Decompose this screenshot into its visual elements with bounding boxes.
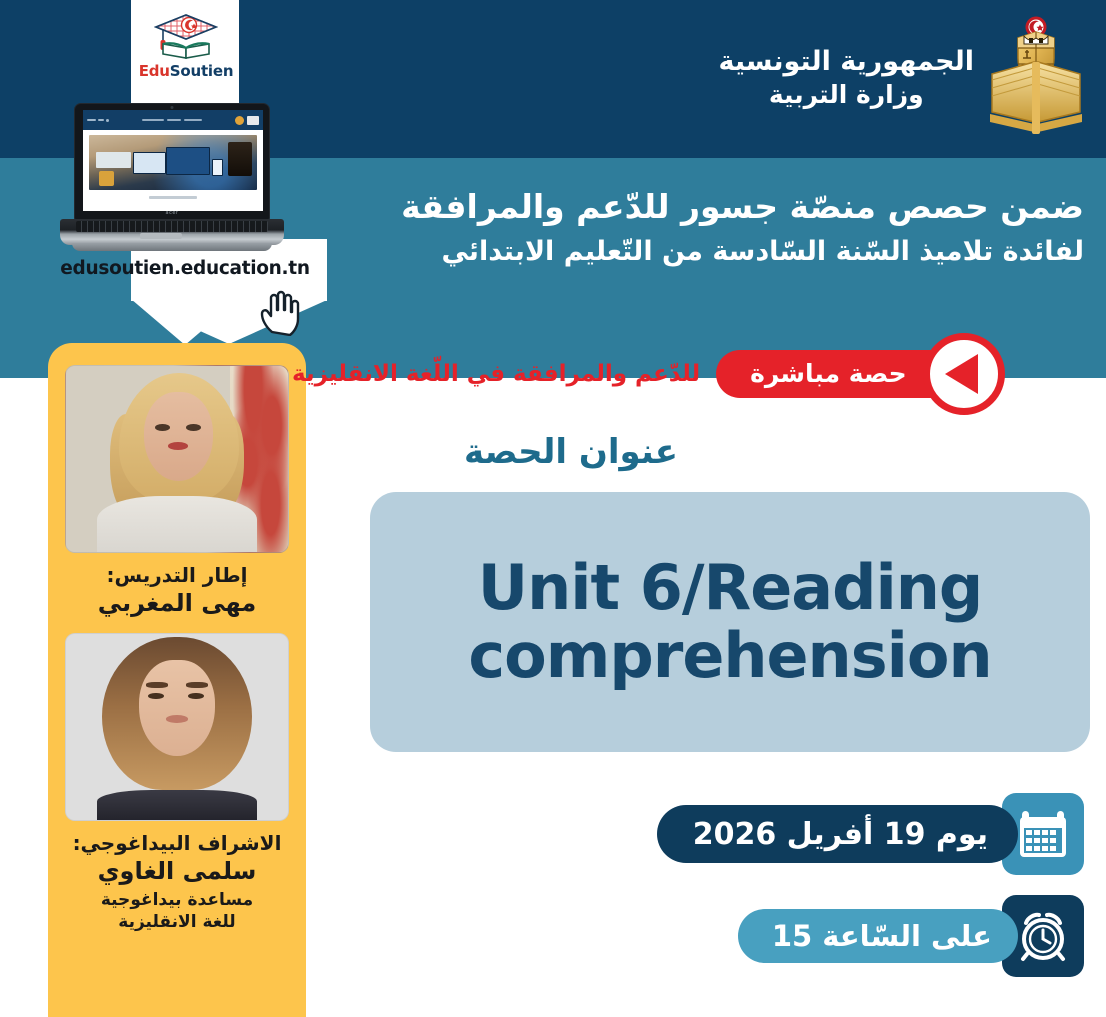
time-text: على السّاعة 15: [738, 909, 1018, 963]
supervisor-photo-salma-elghaoui: [65, 633, 289, 821]
ministry-text: الجمهورية التونسية وزارة التربية: [718, 47, 974, 108]
hero-placard: [96, 152, 131, 169]
graduation-cap-book-logo-icon: [153, 12, 219, 62]
website-hero-image: [89, 135, 257, 190]
heading-primary: ضمن حصص منصّة جسور للدّعم والمرافقة: [314, 186, 1084, 228]
ministry-name: وزارة التربية: [769, 81, 924, 109]
supervisor-name: سلمى الغاوي: [73, 857, 282, 886]
hero-device-phone: [212, 159, 224, 176]
nav-text-bar: [142, 119, 164, 121]
laptop-trackpad: [140, 233, 182, 239]
ribbon-vertical-tail: [131, 299, 239, 345]
headings-block: ضمن حصص منصّة جسور للدّعم والمرافقة لفائ…: [314, 186, 1084, 269]
nav-line-icon: [87, 119, 96, 121]
hero-gear-decoration: [228, 142, 252, 176]
tunisia-ministry-education-emblem-icon: [984, 14, 1088, 142]
laptop-keys: [76, 221, 268, 232]
teacher-role: إطار التدريس:: [98, 563, 256, 587]
website-url-text[interactable]: edusoutien.education.tn: [60, 258, 310, 279]
nav-avatar-icon: [235, 116, 244, 125]
website-navbar: [83, 110, 263, 130]
laptop-brand-text: acer: [166, 210, 179, 216]
brow-right: [186, 682, 208, 688]
nav-text-bar: [184, 119, 202, 121]
laptop-screen-content: [83, 110, 263, 211]
time-row: على السّاعة 15: [738, 895, 1084, 977]
face: [139, 660, 214, 757]
logo-edu-text: Edu: [139, 62, 170, 80]
date-row: يوم 19 أفريل 2026: [657, 793, 1084, 875]
nav-logo-icon: [247, 116, 259, 125]
logo-wordmark: EduSoutien: [139, 64, 234, 79]
poster-canvas: EduSoutien: [0, 0, 1106, 1017]
heading-secondary: لفائدة تلاميذ السّنة السّادسة من التّعلي…: [314, 234, 1084, 269]
edusoutien-logo: EduSoutien: [140, 12, 232, 94]
lips: [166, 715, 188, 722]
play-button[interactable]: [923, 333, 1005, 415]
republic-name: الجمهورية التونسية: [718, 47, 974, 77]
government-header: الجمهورية التونسية وزارة التربية: [758, 8, 1088, 148]
session-title-box: Unit 6/Reading comprehension: [370, 492, 1090, 752]
brow-left: [146, 682, 168, 688]
subject-label: للدّعم والمرافقة في اللّغة الانقليزية: [292, 361, 700, 387]
teacher-caption: إطار التدريس: مهى المغربي: [98, 553, 256, 619]
hero-device-laptop: [166, 147, 210, 175]
laptop-front-edge: [72, 243, 272, 251]
logo-soutien-text: Soutien: [170, 62, 234, 80]
nav-line-icon: [98, 119, 104, 121]
supervisor-role: الاشراف البيداغوجي:: [73, 831, 282, 855]
website-footer-text: [149, 196, 197, 199]
supervisor-subtitle: مساعدة بيداغوجيةللغة الانقليزية: [73, 890, 282, 933]
live-session-row: حصة مباشرة للدّعم والمرافقة في اللّغة ال…: [292, 338, 1092, 410]
supervisor-caption: الاشراف البيداغوجي: سلمى الغاوي مساعدة ب…: [73, 821, 282, 933]
shoulders: [97, 790, 257, 821]
date-text: يوم 19 أفريل 2026: [657, 805, 1018, 863]
laptop-device-icon: acer: [60, 103, 284, 253]
session-title-text: Unit 6/Reading comprehension: [400, 554, 1060, 690]
hand-pointer-icon: [258, 288, 302, 336]
play-triangle-icon: [945, 354, 978, 394]
session-title-label: عنوان الحصة: [36, 432, 1106, 472]
nav-dot-icon: [106, 119, 109, 122]
laptop-keyboard-base: [60, 219, 284, 245]
teacher-name: مهى المغربي: [98, 589, 256, 618]
webcam-dot-icon: [171, 106, 174, 109]
hero-device-tablet: [133, 152, 167, 174]
hero-jar: [99, 171, 114, 185]
nav-text-bar: [167, 119, 181, 121]
laptop-screen-bezel: acer: [74, 103, 270, 220]
shoulders: [97, 496, 257, 553]
